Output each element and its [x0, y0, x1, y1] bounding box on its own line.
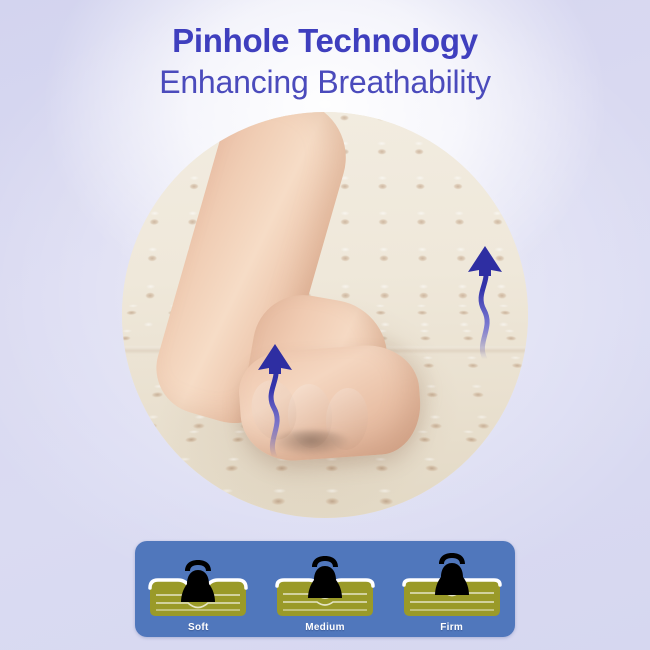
airflow-arrow-top-icon	[464, 246, 508, 362]
firmness-visual-medium	[275, 556, 375, 620]
firmness-item-firm[interactable]: Firm	[396, 549, 508, 637]
firmness-visual-soft	[148, 556, 248, 620]
firmness-label-soft: Soft	[188, 622, 209, 633]
kettlebell-soft-icon	[177, 556, 219, 608]
firmness-comparison-panel: Soft Medium	[135, 541, 515, 637]
firmness-label-medium: Medium	[305, 622, 345, 633]
pinhole-foam-photo	[122, 112, 528, 518]
poster-canvas: Pinhole Technology Enhancing Breathabili…	[0, 0, 650, 650]
title-block: Pinhole Technology Enhancing Breathabili…	[0, 22, 650, 101]
firmness-label-firm: Firm	[440, 622, 463, 633]
page-title: Pinhole Technology	[0, 22, 650, 60]
firmness-item-soft[interactable]: Soft	[142, 549, 254, 637]
firmness-item-medium[interactable]: Medium	[269, 549, 381, 637]
airflow-arrow-left-icon	[254, 344, 298, 460]
kettlebell-medium-icon	[304, 552, 346, 604]
kettlebell-firm-icon	[431, 549, 473, 601]
firmness-visual-firm	[402, 556, 502, 620]
page-subtitle: Enhancing Breathability	[0, 63, 650, 101]
